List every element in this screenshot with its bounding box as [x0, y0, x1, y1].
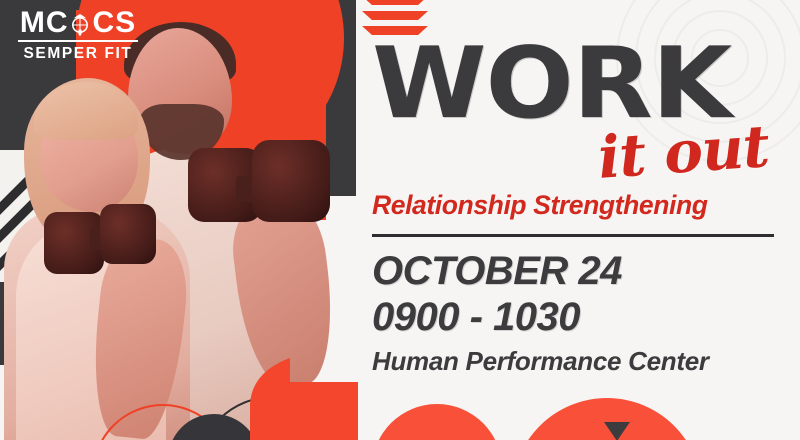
mccs-logo: MC CS SEMPER FIT — [18, 8, 138, 63]
divider-rule — [372, 234, 774, 237]
logo-tagline: SEMPER FIT — [18, 42, 138, 63]
marine-corps-eagle-globe-anchor-icon — [67, 11, 93, 37]
content-block: WORK it out Relationship Strengthening O… — [370, 0, 786, 440]
event-subtitle: Relationship Strengthening — [372, 190, 708, 221]
event-venue: Human Performance Center — [372, 346, 709, 377]
headline-script-it-out: it out — [596, 112, 771, 192]
event-time: 0900 - 1030 — [372, 296, 580, 338]
arrow-right-icon — [246, 352, 362, 440]
event-date: OCTOBER 24 — [372, 250, 622, 292]
event-flyer: MC CS SEMPER FIT WORK it out Relationshi… — [0, 0, 800, 440]
mccs-wordmark: MC CS — [18, 8, 138, 42]
logo-brand-start: MC — [20, 8, 69, 38]
logo-brand-end: CS — [92, 8, 136, 38]
headline-work: WORK — [372, 44, 731, 124]
